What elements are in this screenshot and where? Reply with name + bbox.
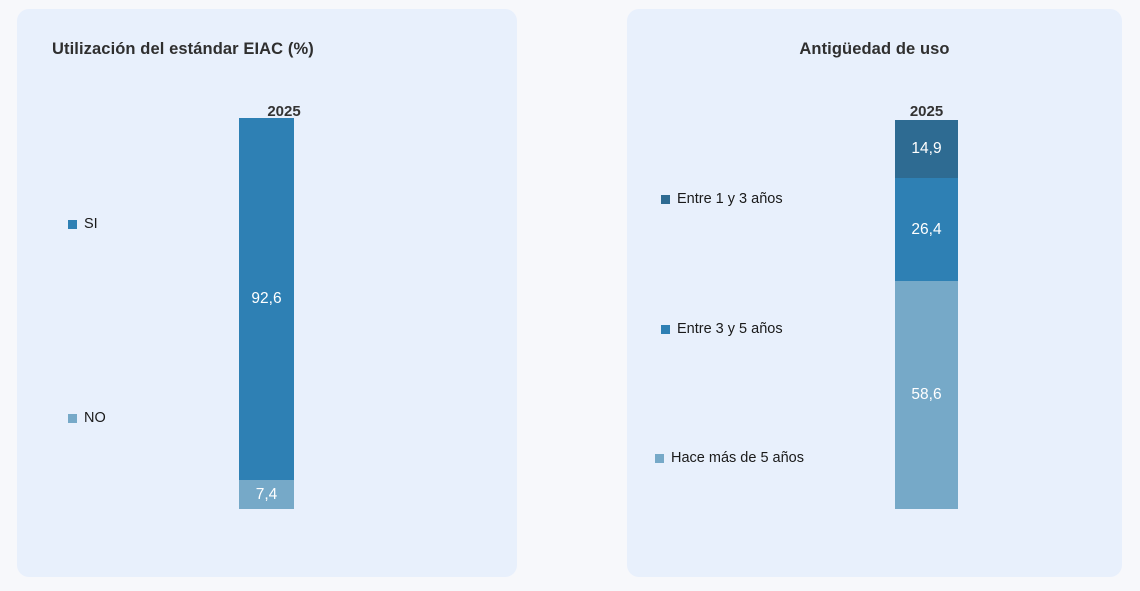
dashboard: Utilización del estándar EIAC (%) 2025 9…: [0, 0, 1140, 591]
legend-label-si: SI: [84, 217, 98, 232]
chart-title-utilizacion-eiac: Utilización del estándar EIAC (%): [52, 40, 314, 59]
legend-swatch-icon-hace-mas-de-5-anos: [655, 454, 664, 463]
legend-swatch-icon-entre-1-y-3-anos: [661, 195, 670, 204]
legend-item-no[interactable]: NO: [68, 411, 106, 426]
bar-segment-hace-mas-de-5-anos[interactable]: 58,6: [895, 281, 958, 509]
bar-segment-value-entre-3-y-5-anos: 26,4: [911, 222, 941, 238]
stacked-bar-utilizacion-eiac[interactable]: 92,6 7,4: [239, 118, 294, 509]
stacked-bar-antiguedad-de-uso[interactable]: 14,9 26,4 58,6: [895, 120, 958, 509]
bar-segment-value-no: 7,4: [256, 487, 278, 503]
legend-swatch-icon-si: [68, 220, 77, 229]
legend-label-entre-3-y-5-anos: Entre 3 y 5 años: [677, 322, 783, 337]
legend-swatch-icon-no: [68, 414, 77, 423]
chart-title-antiguedad-de-uso: Antigüedad de uso: [627, 40, 1122, 59]
legend-label-entre-1-y-3-anos: Entre 1 y 3 años: [677, 192, 783, 207]
bar-segment-no[interactable]: 7,4: [239, 480, 294, 509]
legend-item-si[interactable]: SI: [68, 217, 98, 232]
legend-label-no: NO: [84, 411, 106, 426]
chart-plot-utilizacion-eiac: Utilización del estándar EIAC (%) 2025 9…: [17, 9, 517, 577]
bar-segment-entre-1-y-3-anos[interactable]: 14,9: [895, 120, 958, 178]
bar-segment-value-si: 92,6: [251, 291, 281, 307]
category-label-2025-right: 2025: [880, 103, 973, 120]
legend-item-entre-3-y-5-anos[interactable]: Entre 3 y 5 años: [661, 322, 783, 337]
chart-plot-antiguedad-de-uso: Antigüedad de uso 2025 14,9 26,4 58,6 En…: [627, 9, 1122, 577]
legend-item-hace-mas-de-5-anos[interactable]: Hace más de 5 años: [655, 451, 804, 466]
bar-segment-si[interactable]: 92,6: [239, 118, 294, 480]
bar-segment-entre-3-y-5-anos[interactable]: 26,4: [895, 178, 958, 281]
legend-label-hace-mas-de-5-anos: Hace más de 5 años: [671, 451, 804, 466]
legend-item-entre-1-y-3-anos[interactable]: Entre 1 y 3 años: [661, 192, 783, 207]
bar-segment-value-hace-mas-de-5-anos: 58,6: [911, 387, 941, 403]
bar-segment-value-entre-1-y-3-anos: 14,9: [911, 141, 941, 157]
legend-swatch-icon-entre-3-y-5-anos: [661, 325, 670, 334]
